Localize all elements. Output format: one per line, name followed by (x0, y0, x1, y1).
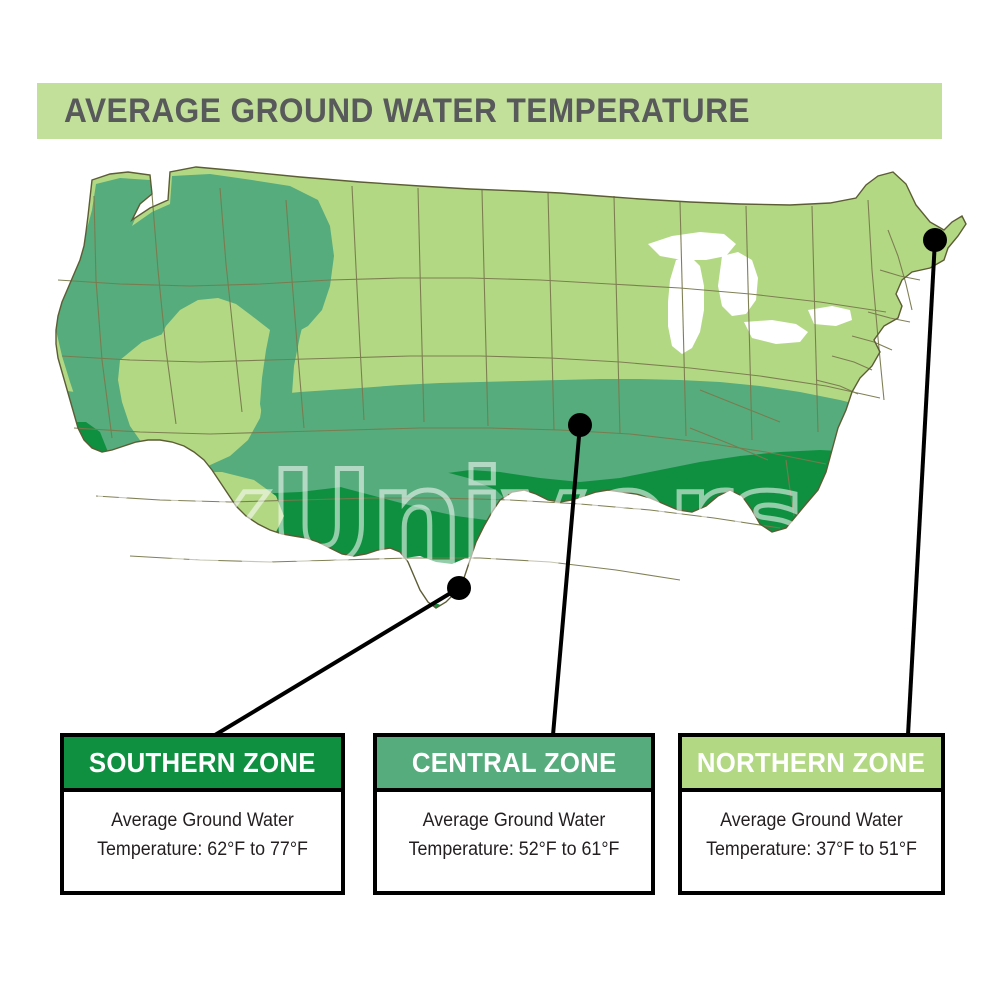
legend-line1-northern: Average Ground Water (697, 806, 925, 835)
legend-title-northern: NORTHERN ZONE (697, 747, 925, 779)
legend-title-central: CENTRAL ZONE (412, 747, 617, 779)
legend-card-northern[interactable]: NORTHERN ZONE Average Ground Water Tempe… (678, 733, 945, 895)
legend-body-southern: Average Ground Water Temperature: 62°F t… (64, 792, 341, 891)
gulf-of-mexico (328, 550, 630, 698)
legend-card-southern[interactable]: SOUTHERN ZONE Average Ground Water Tempe… (60, 733, 345, 895)
legend-header-northern: NORTHERN ZONE (682, 737, 941, 792)
us-map (0, 160, 1000, 740)
legend-header-central: CENTRAL ZONE (377, 737, 651, 792)
map-container (0, 160, 1000, 740)
page-title: AVERAGE GROUND WATER TEMPERATURE (64, 92, 750, 131)
legend-line2-southern: Temperature: 62°F to 77°F (80, 835, 325, 864)
legend-body-northern: Average Ground Water Temperature: 37°F t… (682, 792, 941, 891)
legend-line1-southern: Average Ground Water (80, 806, 325, 835)
legend-line2-northern: Temperature: 37°F to 51°F (697, 835, 925, 864)
legend-body-central: Average Ground Water Temperature: 52°F t… (377, 792, 651, 891)
groundwater-temperature-infographic: AVERAGE GROUND WATER TEMPERATURE (0, 0, 1000, 1000)
legend-title-southern: SOUTHERN ZONE (89, 747, 316, 779)
legend-line2-central: Temperature: 52°F to 61°F (393, 835, 636, 864)
title-band: AVERAGE GROUND WATER TEMPERATURE (37, 83, 942, 139)
legend-card-central[interactable]: CENTRAL ZONE Average Ground Water Temper… (373, 733, 655, 895)
legend-line1-central: Average Ground Water (393, 806, 636, 835)
legend-header-southern: SOUTHERN ZONE (64, 737, 341, 792)
